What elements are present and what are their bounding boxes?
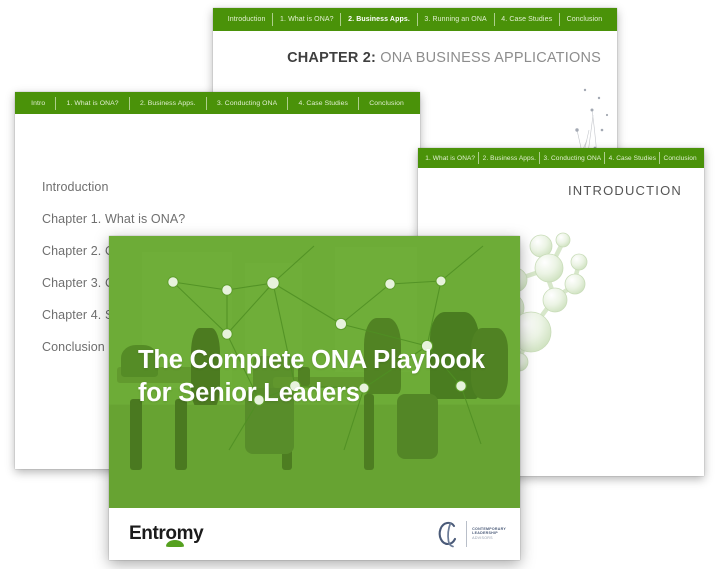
slide-intro-navbar: 1. What is ONA? 2. Business Apps. 3. Con…: [418, 148, 704, 168]
chapter-2-title-prefix: CHAPTER 2:: [287, 50, 376, 66]
cover-title: The Complete ONA Playbook for Senior Lea…: [138, 344, 485, 409]
entromy-logo: Entromy: [129, 523, 203, 545]
nav-item-case-studies[interactable]: 4. Case Studies: [605, 155, 659, 162]
contemporary-leadership-advisors-logo: CONTEMPORARY LEADERSHIP ADVISORS: [435, 519, 506, 549]
entromy-wordmark: Entromy: [129, 523, 203, 544]
nav-divider: [417, 13, 418, 26]
cover-title-line-2: for Senior Leaders: [138, 377, 485, 410]
nav-item-introduction[interactable]: Introduction: [221, 16, 272, 23]
nav-divider: [494, 13, 495, 26]
nav-item-business-apps[interactable]: 2. Business Apps.: [341, 16, 416, 23]
nav-divider: [659, 152, 660, 164]
nav-item-what-is-ona[interactable]: 1. What is ONA?: [56, 100, 128, 107]
nav-item-intro[interactable]: Intro: [21, 100, 55, 107]
nav-divider: [287, 97, 288, 110]
slide-chapter2-navbar: Introduction 1. What is ONA? 2. Business…: [213, 8, 617, 31]
nav-item-conclusion[interactable]: Conclusion: [560, 16, 609, 23]
nav-item-running-an-ona[interactable]: 3. Running an ONA: [418, 16, 494, 23]
cla-wordmark: CONTEMPORARY LEADERSHIP ADVISORS: [472, 528, 506, 541]
nav-item-conclusion[interactable]: Conclusion: [660, 155, 700, 162]
nav-item-what-is-ona[interactable]: 1. What is ONA?: [422, 155, 478, 162]
cla-monogram-icon: [435, 519, 461, 549]
nav-divider: [559, 13, 560, 26]
slide-cover[interactable]: The Complete ONA Playbook for Senior Lea…: [109, 236, 520, 560]
nav-item-conclusion[interactable]: Conclusion: [359, 100, 414, 107]
entromy-mark-icon: [166, 540, 184, 547]
introduction-title: INTRODUCTION: [568, 183, 682, 198]
slide-deck-collage: Introduction 1. What is ONA? 2. Business…: [0, 0, 725, 569]
nav-divider: [358, 97, 359, 110]
nav-item-conducting-ona[interactable]: 3. Conducting ONA: [207, 100, 288, 107]
cover-footer: Entromy CONTEMPORARY LEADERSHIP ADVISORS: [109, 508, 520, 560]
nav-divider: [539, 152, 540, 164]
toc-entry-chapter-1[interactable]: Chapter 1. What is ONA?: [42, 212, 258, 226]
cover-title-line-1: The Complete ONA Playbook: [138, 344, 485, 377]
nav-item-case-studies[interactable]: 4. Case Studies: [495, 16, 559, 23]
cover-artwork: The Complete ONA Playbook for Senior Lea…: [109, 236, 520, 508]
nav-divider: [340, 13, 341, 26]
chapter-2-title: CHAPTER 2: ONA BUSINESS APPLICATIONS: [287, 50, 601, 66]
nav-divider: [478, 152, 479, 164]
toc-entry-introduction[interactable]: Introduction: [42, 180, 258, 194]
cla-line-3: ADVISORS: [472, 537, 506, 541]
chapter-2-title-rest: ONA BUSINESS APPLICATIONS: [376, 50, 601, 66]
nav-divider: [604, 152, 605, 164]
nav-item-case-studies[interactable]: 4. Case Studies: [288, 100, 358, 107]
nav-divider: [129, 97, 130, 110]
nav-divider: [206, 97, 207, 110]
nav-divider: [272, 13, 273, 26]
nav-item-what-is-ona[interactable]: 1. What is ONA?: [273, 16, 340, 23]
nav-divider: [55, 97, 56, 110]
nav-item-conducting-ona[interactable]: 3. Conducting ONA: [540, 155, 604, 162]
slide-toc-navbar: Intro 1. What is ONA? 2. Business Apps. …: [15, 92, 420, 114]
nav-item-business-apps[interactable]: 2. Business Apps.: [479, 155, 539, 162]
logo-divider: [466, 521, 467, 547]
nav-item-business-apps[interactable]: 2. Business Apps.: [130, 100, 206, 107]
